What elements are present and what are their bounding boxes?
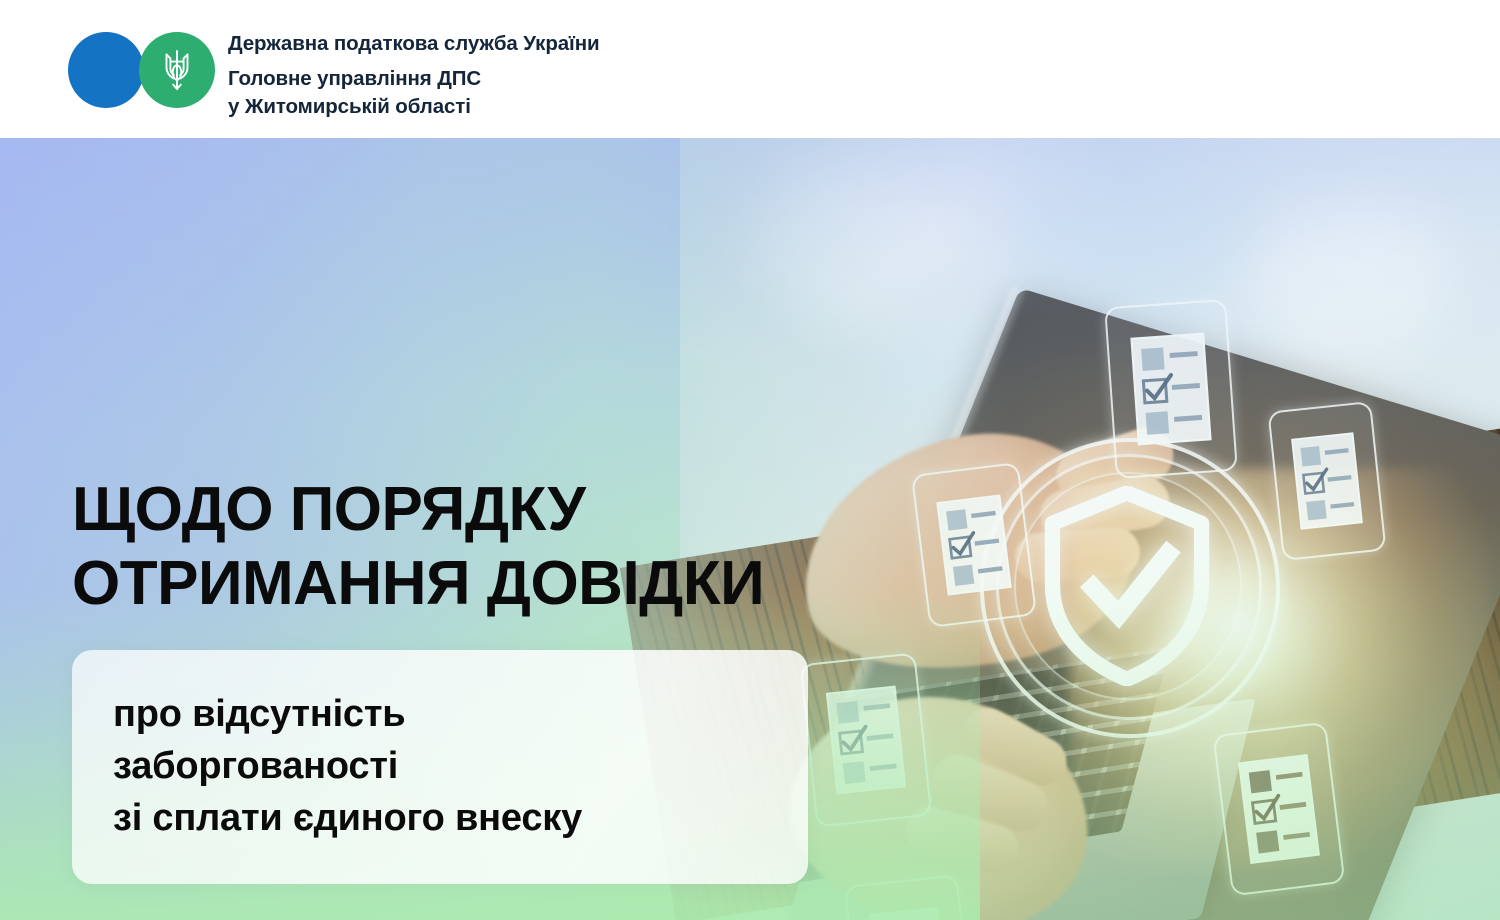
org-title-line-1: Державна податкова служба України <box>228 30 600 57</box>
checklist-card-icon <box>1104 299 1238 479</box>
dps-logo <box>68 32 218 108</box>
subtitle-line-1: про відсутність <box>113 688 582 740</box>
headline-line-2: ОТРИМАННЯ ДОВІДКИ <box>72 547 764 621</box>
subtitle-line-3: зі сплати єдиного внеску <box>113 792 582 844</box>
checklist-card-icon <box>1267 401 1386 561</box>
org-title-line-3: у Житомирській області <box>228 93 600 121</box>
checklist-document-icon <box>1289 430 1365 532</box>
subtitle-line-2: заборгованості <box>113 740 582 792</box>
organization-title: Державна податкова служба України Головн… <box>228 30 600 121</box>
checklist-document-icon <box>1128 330 1214 447</box>
header-bar: Державна податкова служба України Головн… <box>0 0 1500 138</box>
subtitle-text: про відсутність заборгованості зі сплати… <box>113 688 582 844</box>
logo-blue-circle-icon <box>68 32 144 108</box>
subtitle-card: про відсутність заборгованості зі сплати… <box>72 650 808 884</box>
page-title: ЩОДО ПОРЯДКУ ОТРИМАННЯ ДОВІДКИ <box>72 473 764 621</box>
headline-line-1: ЩОДО ПОРЯДКУ <box>72 473 764 547</box>
org-title-line-2: Головне управління ДПС <box>228 65 600 93</box>
banner-root: Державна податкова служба України Головн… <box>0 0 1500 920</box>
checklist-card-icon <box>1213 722 1346 897</box>
ukraine-trident-icon <box>160 48 194 92</box>
logo-green-circle-icon <box>139 32 215 108</box>
checklist-document-icon <box>1236 752 1322 866</box>
banner-artwork: ЩОДО ПОРЯДКУ ОТРИМАННЯ ДОВІДКИ про відсу… <box>0 138 1500 920</box>
